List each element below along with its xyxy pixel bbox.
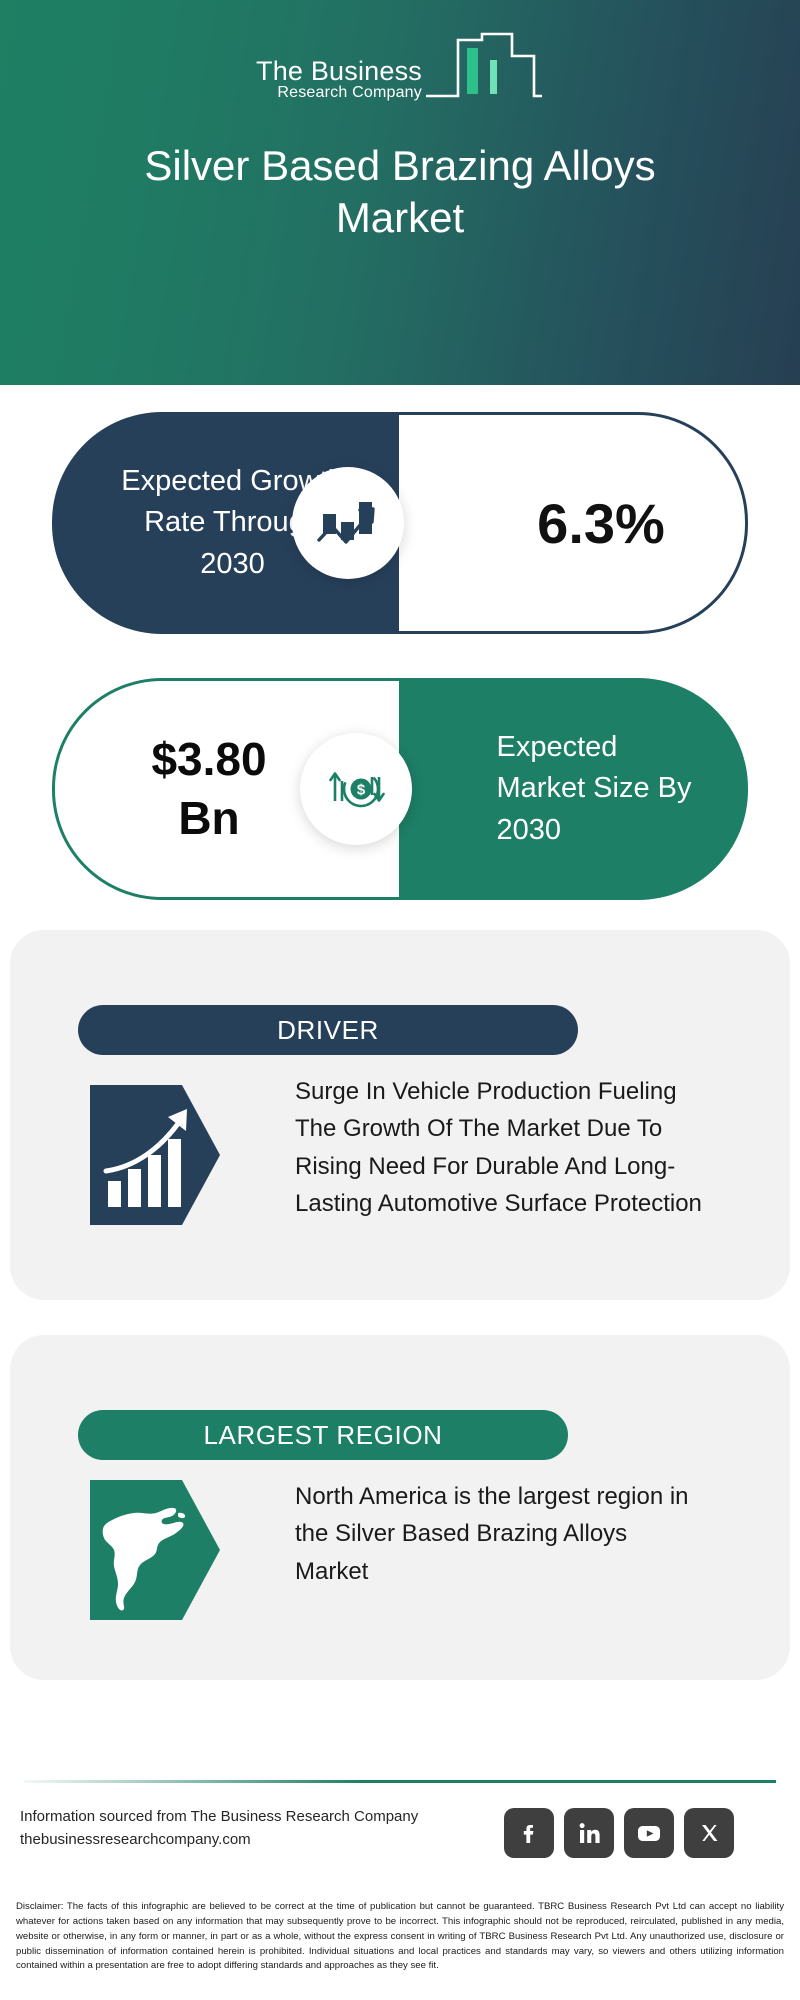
growth-rate-value-block: 6.3%: [399, 412, 748, 634]
growth-rate-badge: [292, 467, 404, 579]
logo-text: The Business Research Company: [256, 57, 422, 106]
disclaimer-text: Disclaimer: The facts of this infographi…: [16, 1900, 784, 1974]
market-size-label: Expected Market Size By 2030: [449, 727, 699, 851]
infographic-page: The Business Research Company Silver Bas…: [0, 0, 800, 2000]
driver-heading-pill: DRIVER: [78, 1005, 578, 1055]
logo-line-1: The Business: [256, 57, 422, 85]
footer-source: Information sourced from The Business Re…: [20, 1806, 418, 1852]
region-heading-pill: LARGEST REGION: [78, 1410, 568, 1460]
driver-text: Surge In Vehicle Production Fueling The …: [295, 1073, 715, 1223]
market-size-value-line-1: $3.80: [151, 730, 266, 789]
region-heading: LARGEST REGION: [203, 1420, 442, 1451]
dollar-cycle-icon: $: [321, 755, 391, 823]
market-size-value: $3.80 Bn: [151, 730, 302, 848]
svg-text:$: $: [357, 782, 366, 799]
youtube-icon[interactable]: [624, 1808, 674, 1858]
page-title: Silver Based Brazing Alloys Market: [80, 140, 720, 244]
header-banner: The Business Research Company Silver Bas…: [0, 0, 800, 385]
footer-source-line-2[interactable]: thebusinessresearchcompany.com: [20, 1829, 418, 1852]
facebook-icon[interactable]: [504, 1808, 554, 1858]
linkedin-icon[interactable]: [564, 1808, 614, 1858]
footer-divider: [24, 1780, 776, 1783]
logo-line-2: Research Company: [256, 85, 422, 102]
x-twitter-icon[interactable]: [684, 1808, 734, 1858]
north-america-map-icon: [90, 1480, 220, 1620]
region-icon-chevron: [90, 1480, 220, 1620]
growth-rate-value: 6.3%: [479, 491, 665, 556]
footer-source-line-1: Information sourced from The Business Re…: [20, 1806, 418, 1829]
market-size-value-line-2: Bn: [151, 789, 266, 848]
company-logo: The Business Research Company: [256, 26, 544, 106]
market-size-badge: $: [300, 733, 412, 845]
bar-chart-growth-icon: [315, 492, 381, 554]
market-size-label-block: Expected Market Size By 2030: [399, 678, 748, 900]
region-text: North America is the largest region in t…: [295, 1478, 695, 1590]
driver-heading: DRIVER: [277, 1015, 379, 1046]
social-links: [504, 1808, 734, 1858]
driver-icon-chevron: [90, 1085, 220, 1225]
logo-bar-chart-icon: [424, 26, 544, 106]
growth-bars-arrow-icon: [90, 1085, 220, 1225]
